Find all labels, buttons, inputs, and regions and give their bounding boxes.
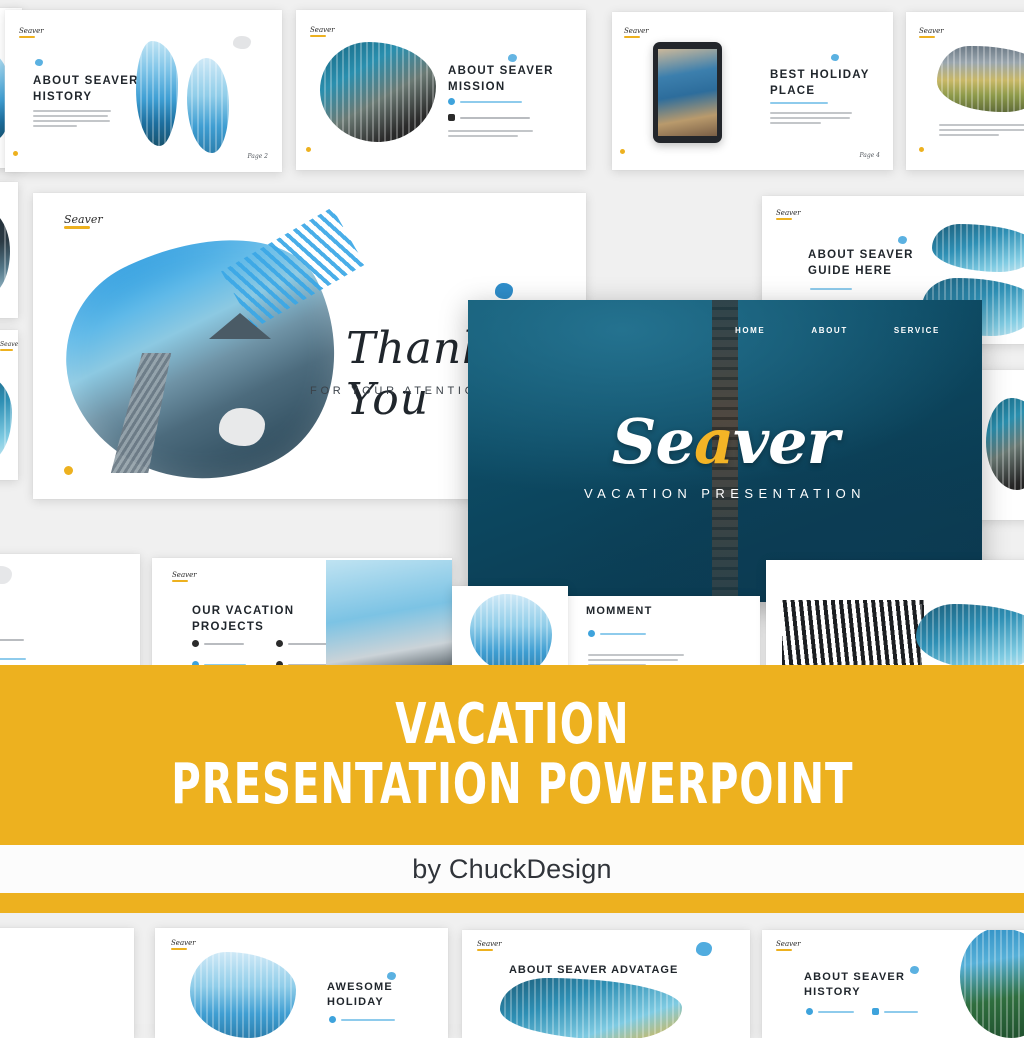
gray-splat-icon	[219, 408, 265, 446]
preview-canvas: Seaver ABOUT SEAVER HISTORY Page 2 Seave…	[0, 0, 1024, 1024]
seaver-logo-text: Seaver	[0, 341, 18, 348]
seaver-logo-text: Seaver	[776, 940, 801, 948]
tablet-mockup	[653, 42, 722, 143]
brush-photo-people	[986, 398, 1024, 490]
list-item[interactable]	[448, 114, 530, 121]
seaver-logo: Seaver	[64, 214, 103, 229]
ink-splat-icon	[831, 54, 839, 61]
slide-subtitle-line	[810, 288, 852, 290]
slide-about-seaver-advatage[interactable]: Seaver ABOUT SEAVER ADVATAGE	[462, 930, 750, 1038]
seaver-logo-underline	[64, 226, 90, 229]
list-item[interactable]	[588, 630, 646, 637]
seaver-logo: Seaver	[776, 210, 801, 220]
nav-item-home[interactable]: HOME	[735, 326, 765, 335]
slide-thumbnail-edge-mid-upper[interactable]	[0, 182, 18, 318]
seaver-logo-underline	[477, 949, 493, 951]
seaver-logo-text: Seaver	[172, 571, 197, 579]
bullet-label	[600, 633, 646, 635]
list-item[interactable]	[0, 655, 26, 662]
location-label	[884, 1011, 918, 1013]
brush-photo-swimmer-top	[932, 224, 1024, 272]
slide-subtitle-line	[770, 102, 828, 104]
seaver-logo-text: Seaver	[64, 213, 103, 226]
brush-photo-family	[320, 42, 436, 142]
seaver-logo-underline	[624, 36, 640, 38]
brush-photo-sea	[187, 58, 229, 153]
date-column-left	[192, 640, 246, 668]
slide-title: AWESOME HOLIDAY	[327, 980, 447, 1010]
seaver-logo: Seaver	[477, 941, 502, 951]
slide-title: MOMMENT	[586, 604, 653, 619]
bullet-label-2	[460, 117, 530, 119]
ink-splat-icon	[35, 59, 43, 66]
slide-title: BEST HOLIDAY PLACE	[770, 68, 893, 99]
thank-you-subtitle: FOR YOUR ATENTION	[310, 385, 489, 397]
seaver-logo: Seaver	[171, 940, 196, 950]
yellow-dot	[306, 147, 311, 152]
yellow-dot	[919, 147, 924, 152]
body-text	[448, 130, 533, 137]
slide-about-seaver-history-top[interactable]: Seaver ABOUT SEAVER HISTORY Page 2	[5, 10, 282, 172]
slide-title: ABOUT SEAVER MISSION	[448, 64, 586, 95]
tablet-screen-photo	[658, 49, 717, 136]
author-byline: by ChuckDesign	[412, 854, 611, 885]
date-column-right	[276, 640, 332, 668]
brush-photo-mountain	[0, 208, 10, 294]
nav-item-about[interactable]: ABOUT	[811, 326, 847, 335]
nav-item-service[interactable]: SERVICE	[894, 326, 940, 335]
ink-splat-icon	[387, 972, 396, 980]
body-text	[939, 124, 1024, 136]
bottom-accent-strip	[0, 893, 1024, 913]
gray-splat-icon	[0, 566, 12, 584]
slide-landscape-thumbnail[interactable]: Seaver	[906, 12, 1024, 170]
ink-splat-icon	[495, 283, 513, 299]
seaver-logo: Seaver	[624, 28, 649, 38]
website-label	[341, 1019, 395, 1021]
seaver-logo-text: Seaver	[776, 209, 801, 217]
slide-title: ABOUT SEAVER TOUR GUIDE	[0, 600, 54, 631]
ink-splat-icon	[898, 236, 907, 244]
project-date-columns	[192, 640, 332, 668]
bullet-list	[329, 1016, 395, 1023]
slide-thumbnail-bottom-left[interactable]	[0, 928, 134, 1038]
bullet-list	[448, 98, 530, 121]
list-item[interactable]	[806, 1008, 854, 1015]
ink-splat-icon	[910, 966, 919, 974]
bullet-label	[0, 639, 24, 641]
list-item[interactable]	[192, 640, 246, 647]
brush-photo-lagoon	[0, 374, 12, 462]
yellow-dot	[13, 151, 18, 156]
seaver-logo-underline	[171, 948, 187, 950]
cover-logo-part1: Se	[612, 405, 694, 478]
slide-title: ABOUT SEAVER ADVATAGE	[509, 963, 729, 978]
calendar-icon	[276, 640, 283, 647]
byline-band: by ChuckDesign	[0, 845, 1024, 893]
link-icon	[329, 1016, 336, 1023]
list-item[interactable]	[0, 636, 26, 643]
date-label	[204, 643, 244, 645]
seaver-logo: Seaver	[0, 342, 18, 351]
brush-photo-landscape	[937, 46, 1024, 112]
list-item[interactable]	[872, 1008, 918, 1015]
bullet-list	[588, 630, 646, 637]
cover-subtitle: VACATION PRESENTATION	[468, 486, 982, 501]
seaver-logo: Seaver	[919, 28, 944, 38]
seaver-logo-text: Seaver	[919, 27, 944, 35]
bullet-column-right	[0, 636, 26, 662]
list-item[interactable]	[276, 640, 332, 647]
slide-about-seaver-mission[interactable]: Seaver ABOUT SEAVER MISSION	[296, 10, 586, 170]
history-meta-row	[806, 1008, 918, 1015]
slide-about-seaver-history-bottom[interactable]: Seaver ABOUT SEAVER HISTORY	[762, 930, 1024, 1038]
brush-photo-surf	[470, 594, 552, 674]
brush-photo-island-light	[916, 604, 1024, 670]
seaver-logo: Seaver	[310, 27, 335, 37]
seaver-logo-underline	[19, 36, 35, 38]
ink-splat-icon	[508, 54, 517, 62]
page-label: Page 2	[248, 153, 268, 160]
slide-awesome-holiday[interactable]: Seaver AWESOME HOLIDAY	[155, 928, 448, 1038]
bullet-label	[0, 658, 26, 660]
brush-photo-woman-sea	[500, 978, 682, 1038]
brush-photo-island-dark	[782, 600, 924, 672]
clock-icon	[806, 1008, 813, 1015]
tour-guide-bullet-columns	[0, 636, 26, 662]
seaver-logo-text: Seaver	[310, 26, 335, 34]
slide-cover-seaver[interactable]: HOME ABOUT SERVICE Seaver VACATION PRESE…	[468, 300, 982, 602]
body-text	[33, 110, 111, 127]
brush-photo-pier	[136, 41, 178, 146]
seaver-logo-underline	[172, 580, 188, 582]
yellow-dot	[620, 149, 625, 154]
seaver-logo-underline	[0, 349, 13, 351]
list-item[interactable]	[329, 1016, 395, 1023]
slide-title: ABOUT SEAVER HISTORY	[804, 970, 934, 1000]
seaver-logo: Seaver	[19, 28, 44, 38]
seaver-logo-underline	[919, 36, 935, 38]
cover-navigation: HOME ABOUT SERVICE	[735, 326, 940, 335]
cover-logo-part2: ver	[733, 405, 838, 478]
brush-photo-beach	[190, 952, 296, 1038]
seaver-logo-underline	[776, 218, 792, 220]
cover-logo-accent-letter: a	[694, 405, 733, 478]
accommodation-icon	[448, 114, 455, 121]
promo-banner: VACATION PRESENTATION POWERPOINT	[0, 665, 1024, 845]
banner-line-2: PRESENTATION POWERPOINT	[171, 757, 853, 813]
location-icon	[872, 1008, 879, 1015]
camera-icon	[588, 630, 595, 637]
seaver-logo-underline	[310, 35, 326, 37]
calendar-icon	[192, 640, 199, 647]
page-label: Page 4	[860, 152, 880, 159]
cover-logo: Seaver	[468, 405, 982, 478]
body-text	[770, 112, 852, 124]
date-label	[818, 1011, 854, 1013]
seaver-logo-text: Seaver	[624, 27, 649, 35]
seaver-logo-underline	[776, 949, 792, 951]
seaver-logo: Seaver	[172, 572, 197, 582]
seaver-logo-text: Seaver	[477, 940, 502, 948]
ink-splat-icon	[696, 942, 712, 956]
seaver-logo-text: Seaver	[171, 939, 196, 947]
brush-photo-palm	[960, 930, 1024, 1038]
seaver-logo-text: Seaver	[19, 27, 44, 35]
slide-thumbnail-edge-mid-right[interactable]	[978, 370, 1024, 520]
slide-best-holiday-place[interactable]: Seaver BEST HOLIDAY PLACE Page 4	[612, 12, 893, 170]
seaver-logo: Seaver	[776, 941, 801, 951]
bullet-label-1	[460, 101, 522, 103]
banner-line-1: VACATION	[395, 697, 629, 753]
list-item[interactable]	[448, 98, 530, 105]
yellow-dot	[64, 466, 73, 475]
slide-thumbnail-edge-mid-lower[interactable]: Seaver	[0, 330, 18, 480]
transport-icon	[448, 98, 455, 105]
gray-splat-icon	[233, 36, 251, 49]
